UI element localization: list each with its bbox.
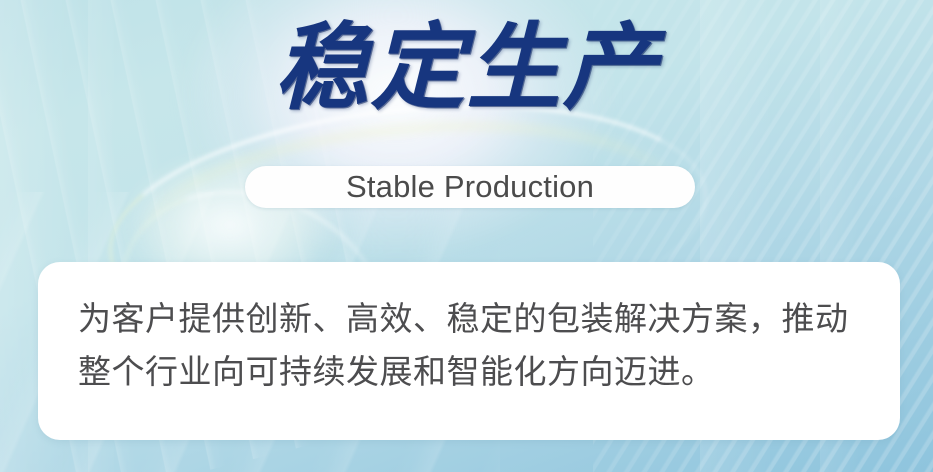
subtitle-english: Stable Production [346,169,594,205]
stable-production-banner: 稳定生产 Stable Production 为客户提供创新、高效、稳定的包装解… [0,0,933,472]
subtitle-pill: Stable Production [245,166,695,208]
description-paragraph: 为客户提供创新、高效、稳定的包装解决方案，推动整个行业向可持续发展和智能化方向迈… [78,292,860,398]
description-card: 为客户提供创新、高效、稳定的包装解决方案，推动整个行业向可持续发展和智能化方向迈… [38,262,900,440]
headline-chinese: 稳定生产 [0,18,933,120]
